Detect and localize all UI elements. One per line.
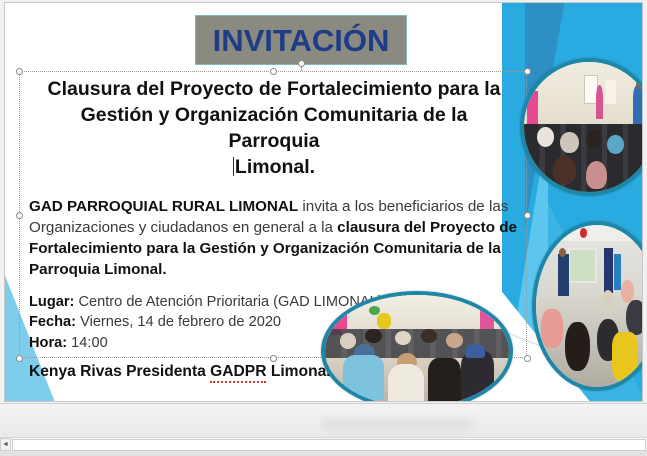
body-paragraph: GAD PARROQUIAL RURAL LIMONAL invita a lo… [27,197,521,281]
invitacion-title-shape[interactable]: INVITACIÓN [195,15,407,65]
resize-handle-top-center[interactable] [270,68,277,75]
signature-before: Kenya Rivas Presidenta [29,363,210,380]
resize-handle-top-left[interactable] [16,68,23,75]
detail-label-hora: Hora: [29,335,67,351]
resize-handle-bottom-left[interactable] [16,355,23,362]
bottom-status-bar: ◄ [0,403,647,456]
detail-value-fecha: Viernes, 14 de febrero de 2020 [76,314,281,330]
body-bold-lead: GAD PARROQUIAL RURAL LIMONAL [29,198,298,215]
text-caret [233,157,234,176]
slide-editor-window: INVITACIÓN Clausura del Proyecto de Fort… [0,0,647,456]
headline-line-3: Limonal. [235,156,315,178]
headline-line-1: Clausura del Proyecto de Fortalecimiento… [48,78,501,100]
photo-2-scene [536,225,643,387]
photo-audience-bottom[interactable] [321,291,513,402]
detail-label-lugar: Lugar: [29,294,74,310]
headline-block: Clausura del Proyecto de Fortalecimiento… [27,77,521,181]
headline-line-2: Gestión y Organización Comunitaria de la… [81,104,468,152]
photo-meeting-room-top[interactable] [520,58,643,196]
scroll-left-arrow-icon[interactable]: ◄ [0,438,11,451]
resize-handle-bottom-right[interactable] [524,355,531,362]
photo-presentation-right[interactable] [532,221,643,391]
scrollbar-track[interactable] [12,439,646,451]
rotation-handle[interactable] [298,60,305,67]
resize-handle-middle-left[interactable] [16,212,23,219]
detail-value-hora: 14:00 [67,335,108,351]
resize-handle-middle-right[interactable] [524,212,531,219]
photo-3-scene [325,295,509,402]
spellcheck-underlined-word: GADPR [210,363,266,383]
horizontal-scrollbar[interactable]: ◄ [0,437,647,451]
photo-1-scene [524,62,643,192]
invitacion-title-text: INVITACIÓN [213,25,390,56]
detail-label-fecha: Fecha: [29,314,76,330]
slide-canvas[interactable]: INVITACIÓN Clausura del Proyecto de Fort… [4,2,643,402]
bottom-blurred-widget [322,418,472,431]
